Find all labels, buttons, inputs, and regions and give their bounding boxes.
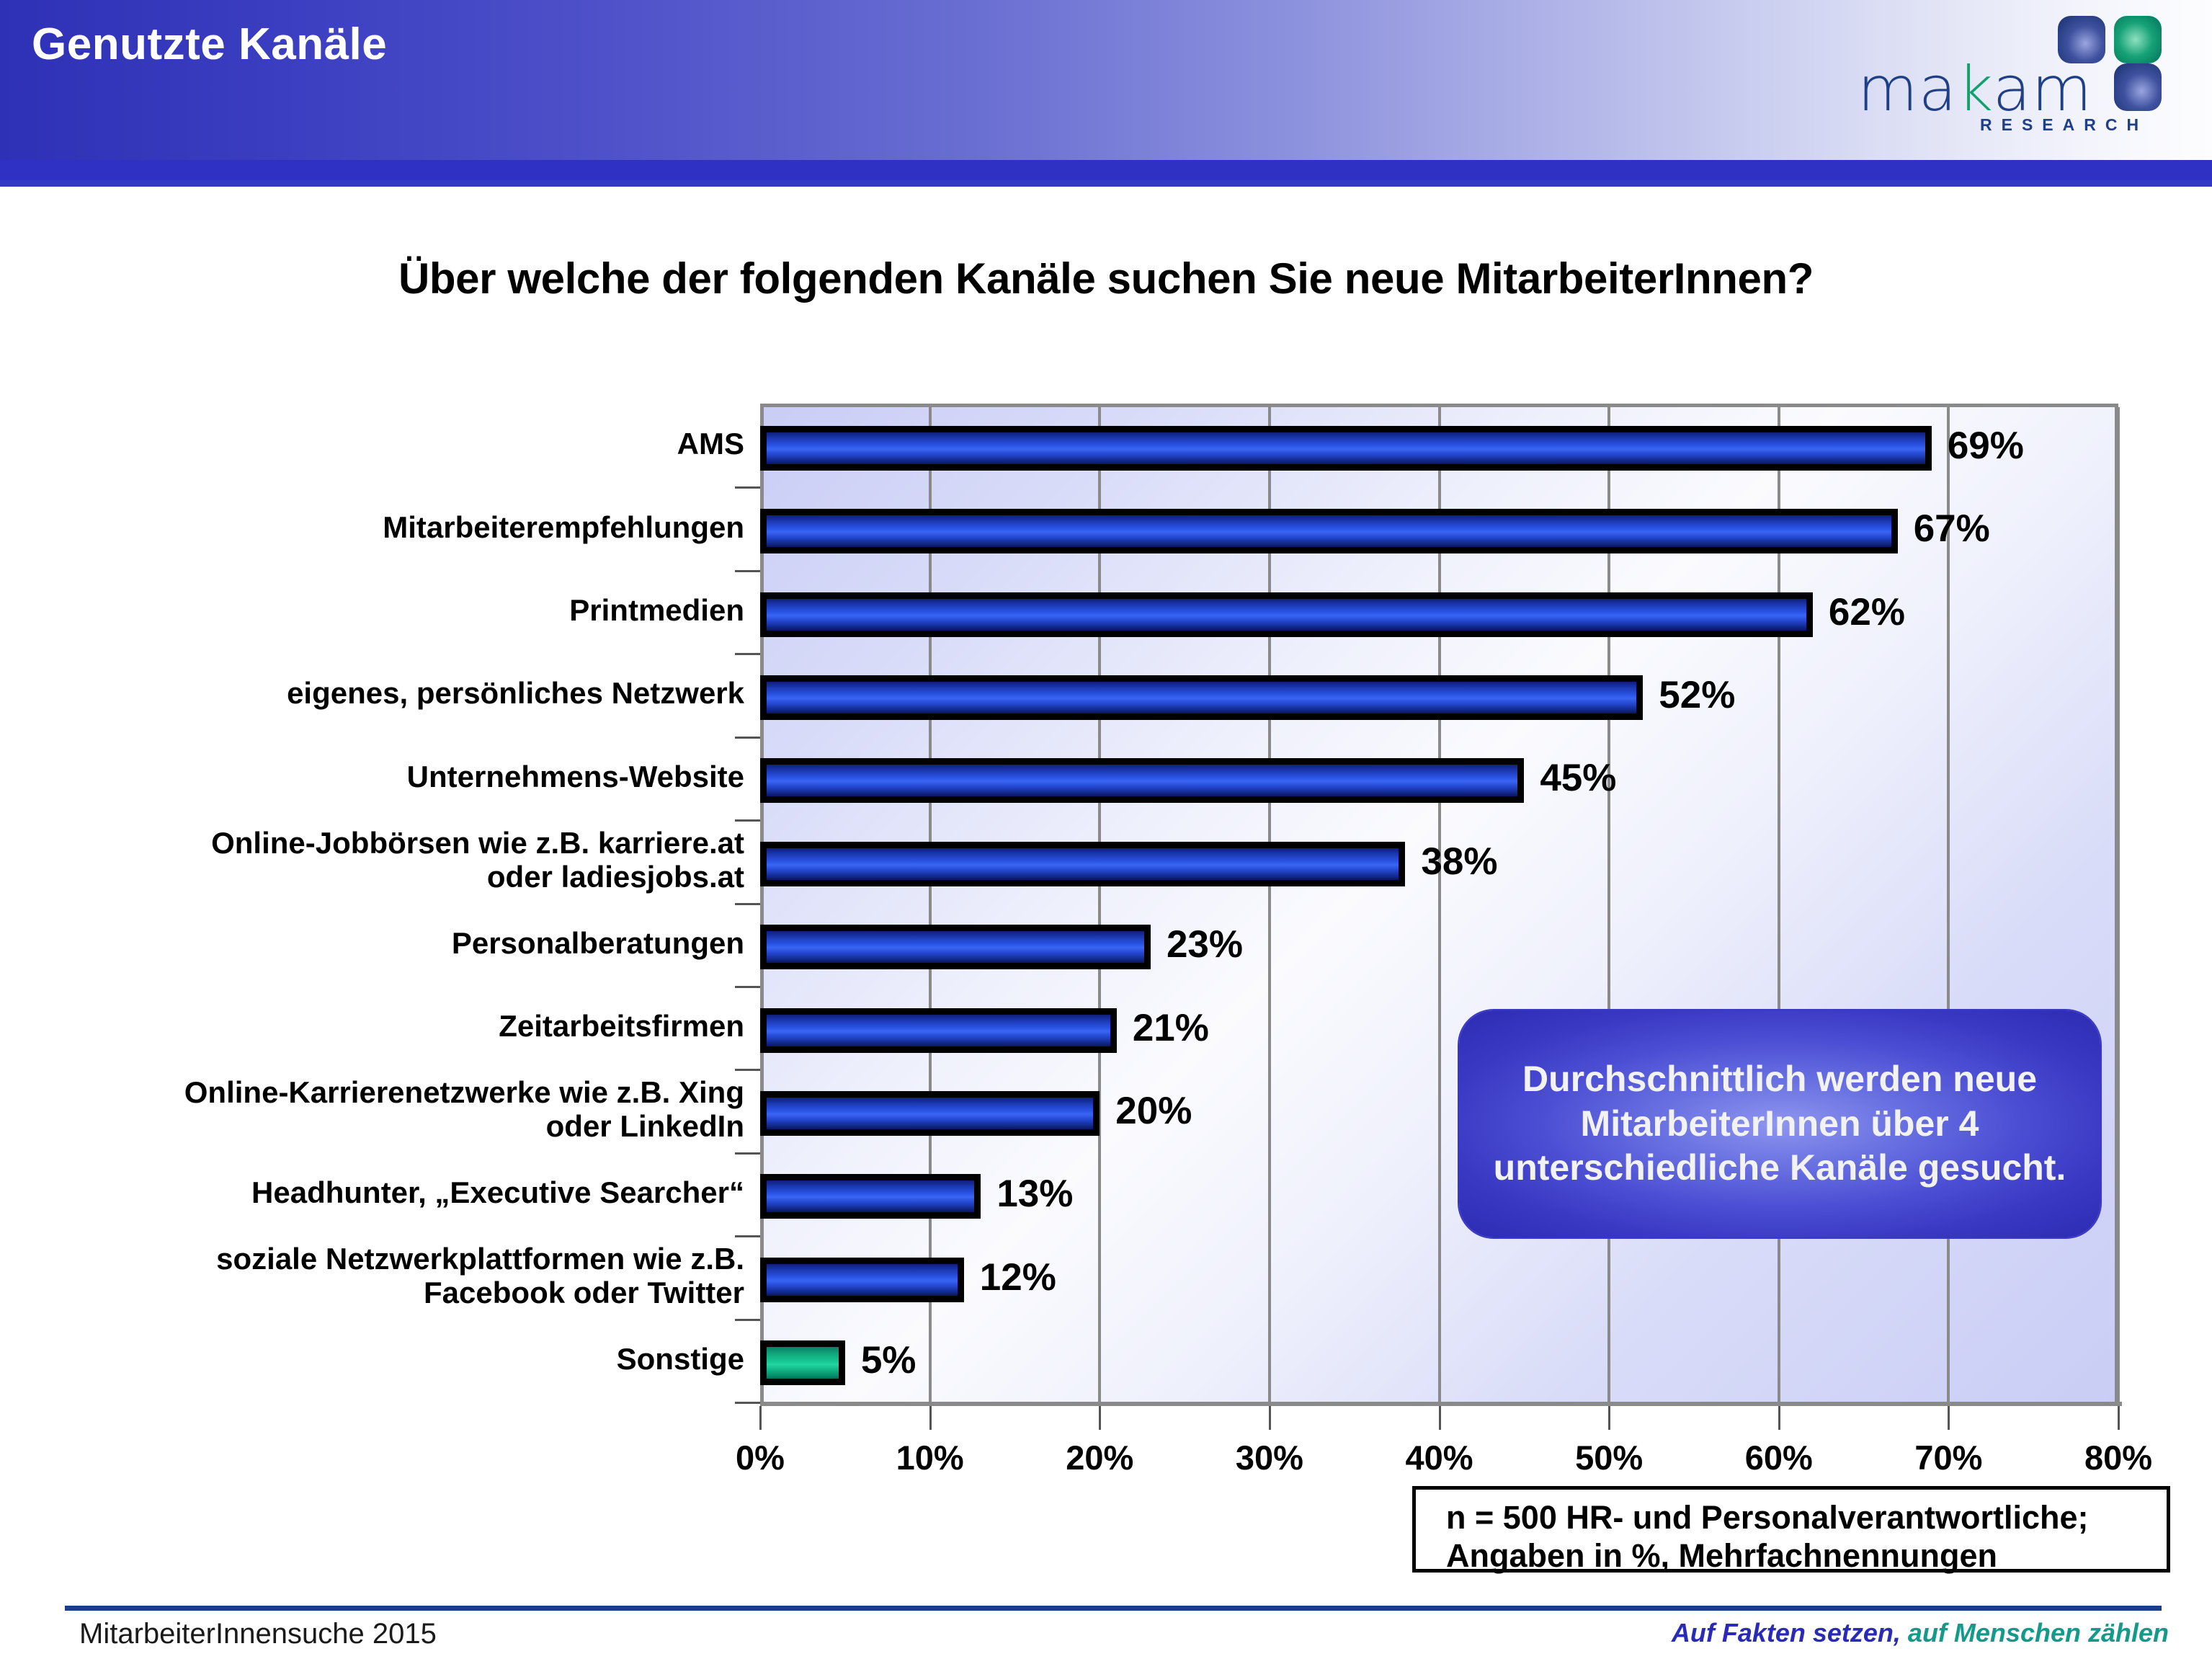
category-label-4: Unternehmens-Website [24,760,744,793]
logo-wordmark-part2: am [1993,53,2092,125]
y-axis-line [760,404,764,1406]
logo-square-blue-bottom-icon [2114,63,2162,111]
logo-subtitle: RESEARCH [1980,115,2148,135]
category-label-line: Printmedien [24,593,744,627]
callout-text: Durchschnittlich werden neue Mitarbeiter… [1459,1057,2100,1191]
gridline-50 [1607,407,1610,1402]
bar-value-label-3: 52% [1659,673,1735,717]
x-axis-label-80: 80% [2084,1438,2152,1477]
bar-value-label-1: 67% [1914,507,1990,551]
category-label-11: Sonstige [24,1342,744,1376]
logo-wordmark-k: k [1957,53,1992,125]
footer-tagline-part2: auf Menschen zählen [1901,1618,2169,1647]
y-tick-mark-3 [735,737,760,739]
category-label-line: Personalberatungen [24,926,744,960]
gridline-80 [2117,407,2120,1402]
bar-5 [760,842,1405,886]
category-label-line: Zeitarbeitsfirmen [24,1009,744,1043]
category-label-line: soziale Netzwerkplattformen wie z.B. [24,1242,744,1276]
x-axis-label-40: 40% [1405,1438,1473,1477]
y-tick-mark-9 [735,1235,760,1237]
question-heading: Über welche der folgenden Kanäle suchen … [0,254,2212,303]
category-label-1: Mitarbeiterempfehlungen [24,510,744,544]
bar-value-label-10: 12% [980,1255,1056,1299]
category-label-line: Unternehmens-Website [24,760,744,793]
x-tick-mark-80 [2118,1406,2120,1430]
logo-square-blue-top-icon [2058,16,2105,63]
bar-3 [760,675,1643,720]
bar-value-label-2: 62% [1829,590,1905,634]
bar-4 [760,758,1524,803]
x-axis-label-50: 50% [1575,1438,1643,1477]
bar-value-label-4: 45% [1540,756,1616,800]
y-tick-mark-2 [735,653,760,655]
x-tick-mark-70 [1948,1406,1950,1430]
category-label-line: Online-Karrierenetzwerke wie z.B. Xing [24,1075,744,1109]
bar-value-label-7: 21% [1133,1006,1209,1050]
x-axis-label-0: 0% [736,1438,785,1477]
bar-8 [760,1091,1100,1136]
bar-7 [760,1008,1117,1053]
x-tick-mark-0 [759,1406,762,1430]
category-label-line: Mitarbeiterempfehlungen [24,510,744,544]
category-label-line: Sonstige [24,1342,744,1376]
bar-value-label-11: 5% [861,1338,917,1382]
y-tick-mark-10 [735,1319,760,1321]
category-label-line: Online-Jobbörsen wie z.B. karriere.at [24,826,744,860]
gridline-70 [1947,407,1950,1402]
category-label-line: Facebook oder Twitter [24,1276,744,1309]
y-tick-mark-1 [735,570,760,572]
category-label-0: AMS [24,427,744,461]
bar-value-label-5: 38% [1421,840,1497,884]
bar-2 [760,592,1813,637]
x-tick-mark-10 [929,1406,932,1430]
category-label-line: oder LinkedIn [24,1109,744,1143]
bar-1 [760,509,1898,553]
category-label-line: eigenes, persönliches Netzwerk [24,676,744,710]
bar-11 [760,1340,845,1385]
bar-10 [760,1258,964,1302]
y-tick-mark-6 [735,986,760,988]
callout-box: Durchschnittlich werden neue Mitarbeiter… [1459,1010,2100,1237]
x-axis-label-10: 10% [896,1438,964,1477]
makam-research-logo: makam RESEARCH [1858,6,2175,150]
bar-value-label-8: 20% [1115,1089,1192,1133]
logo-wordmark-part1: ma [1858,53,1957,125]
x-axis-label-20: 20% [1066,1438,1133,1477]
y-tick-mark-7 [735,1069,760,1071]
gridline-40 [1438,407,1441,1402]
bar-value-label-0: 69% [1948,424,2024,468]
x-tick-mark-20 [1099,1406,1101,1430]
y-tick-mark-4 [735,819,760,822]
category-label-6: Personalberatungen [24,926,744,960]
category-label-line: Headhunter, „Executive Searcher“ [24,1175,744,1209]
category-label-5: Online-Jobbörsen wie z.B. karriere.atode… [24,826,744,894]
category-label-9: Headhunter, „Executive Searcher“ [24,1175,744,1209]
category-label-line: AMS [24,427,744,461]
footnote-line-1: n = 500 HR- und Personalverantwortliche; [1446,1498,2167,1536]
bar-0 [760,426,1932,471]
footnote-line-2: Angaben in %, Mehrfachnennungen [1446,1536,2167,1575]
category-label-2: Printmedien [24,593,744,627]
bar-6 [760,925,1151,969]
category-label-8: Online-Karrierenetzwerke wie z.B. Xingod… [24,1075,744,1143]
page-title: Genutzte Kanäle [32,19,387,70]
footer-project-label: MitarbeiterInnensuche 2015 [79,1618,437,1650]
category-label-line: oder ladiesjobs.at [24,860,744,894]
footer-divider [65,1606,2162,1611]
x-axis-line [760,1402,2122,1406]
gridline-60 [1778,407,1780,1402]
category-label-10: soziale Netzwerkplattformen wie z.B.Face… [24,1242,744,1309]
logo-square-green-icon [2114,16,2162,63]
x-tick-mark-60 [1778,1406,1780,1430]
footnote-box: n = 500 HR- und Personalverantwortliche;… [1412,1486,2170,1573]
y-tick-mark-5 [735,903,760,905]
x-axis-label-30: 30% [1236,1438,1303,1477]
gridline-10 [929,407,932,1402]
y-tick-mark-0 [735,486,760,489]
x-tick-mark-40 [1439,1406,1441,1430]
bar-value-label-9: 13% [996,1172,1073,1216]
footer-tagline: Auf Fakten setzen, auf Menschen zählen [1672,1618,2169,1648]
header-accent-strip-shadow [0,180,2212,187]
bar-9 [760,1174,981,1219]
x-tick-mark-30 [1269,1406,1271,1430]
category-label-3: eigenes, persönliches Netzwerk [24,676,744,710]
category-label-7: Zeitarbeitsfirmen [24,1009,744,1043]
y-tick-mark-11 [735,1402,760,1404]
gridline-30 [1268,407,1271,1402]
y-tick-mark-8 [735,1152,760,1155]
gridline-20 [1098,407,1101,1402]
x-axis-label-60: 60% [1745,1438,1813,1477]
bar-value-label-6: 23% [1167,922,1243,966]
x-axis-label-70: 70% [1914,1438,1982,1477]
footer-tagline-part1: Auf Fakten setzen, [1672,1618,1901,1647]
x-tick-mark-50 [1608,1406,1610,1430]
logo-wordmark: makam [1858,53,2092,125]
